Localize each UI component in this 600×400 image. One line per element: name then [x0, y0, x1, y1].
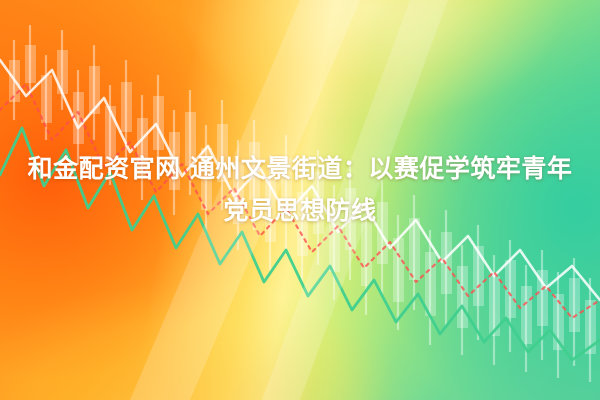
headline-title: 和金配资官网 通州文景街道：以赛促学筑牢青年党员思想防线 — [0, 148, 600, 232]
banner-image: 和金配资官网 通州文景街道：以赛促学筑牢青年党员思想防线 — [0, 0, 600, 400]
